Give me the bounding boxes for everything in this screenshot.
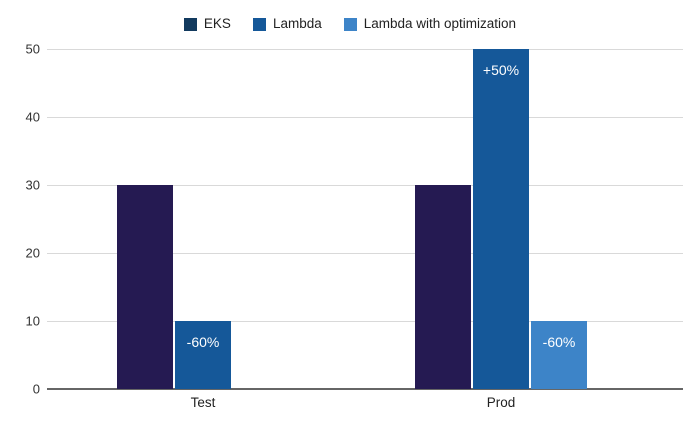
- bar-chart: EKS Lambda Lambda with optimization 0102…: [0, 0, 700, 430]
- legend-item-eks[interactable]: EKS: [184, 17, 231, 31]
- legend-swatch-icon-lambda: [253, 18, 266, 31]
- y-axis-tick-label: 50: [0, 43, 40, 56]
- y-axis-tick-label: 0: [0, 383, 40, 396]
- y-axis-tick-label: 30: [0, 179, 40, 192]
- plot-area: -60%+50%-60%: [47, 49, 683, 389]
- chart-legend: EKS Lambda Lambda with optimization: [0, 11, 700, 37]
- legend-swatch-icon-lambda-with-optimization: [344, 18, 357, 31]
- legend-swatch-icon-eks: [184, 18, 197, 31]
- gridline: [47, 117, 683, 118]
- y-axis-tick-label: 10: [0, 315, 40, 328]
- y-axis-tick-label: 20: [0, 247, 40, 260]
- bar-value-label: +50%: [473, 63, 529, 77]
- y-axis-tick-labels: 01020304050: [0, 49, 40, 389]
- legend-label-eks: EKS: [204, 17, 231, 31]
- bar[interactable]: -60%: [531, 321, 587, 389]
- bar-value-label: -60%: [531, 335, 587, 349]
- y-axis-tick-label: 40: [0, 111, 40, 124]
- gridline: [47, 49, 683, 50]
- bar[interactable]: [117, 185, 173, 389]
- bar-value-label: -60%: [175, 335, 231, 349]
- legend-item-lambda-with-optimization[interactable]: Lambda with optimization: [344, 17, 516, 31]
- legend-label-lambda-with-optimization: Lambda with optimization: [364, 17, 516, 31]
- bar[interactable]: -60%: [175, 321, 231, 389]
- legend-item-lambda[interactable]: Lambda: [253, 17, 322, 31]
- bar[interactable]: +50%: [473, 49, 529, 389]
- bar[interactable]: [415, 185, 471, 389]
- legend-label-lambda: Lambda: [273, 17, 322, 31]
- x-axis-category-label: Prod: [487, 396, 516, 410]
- x-axis-category-label: Test: [191, 396, 216, 410]
